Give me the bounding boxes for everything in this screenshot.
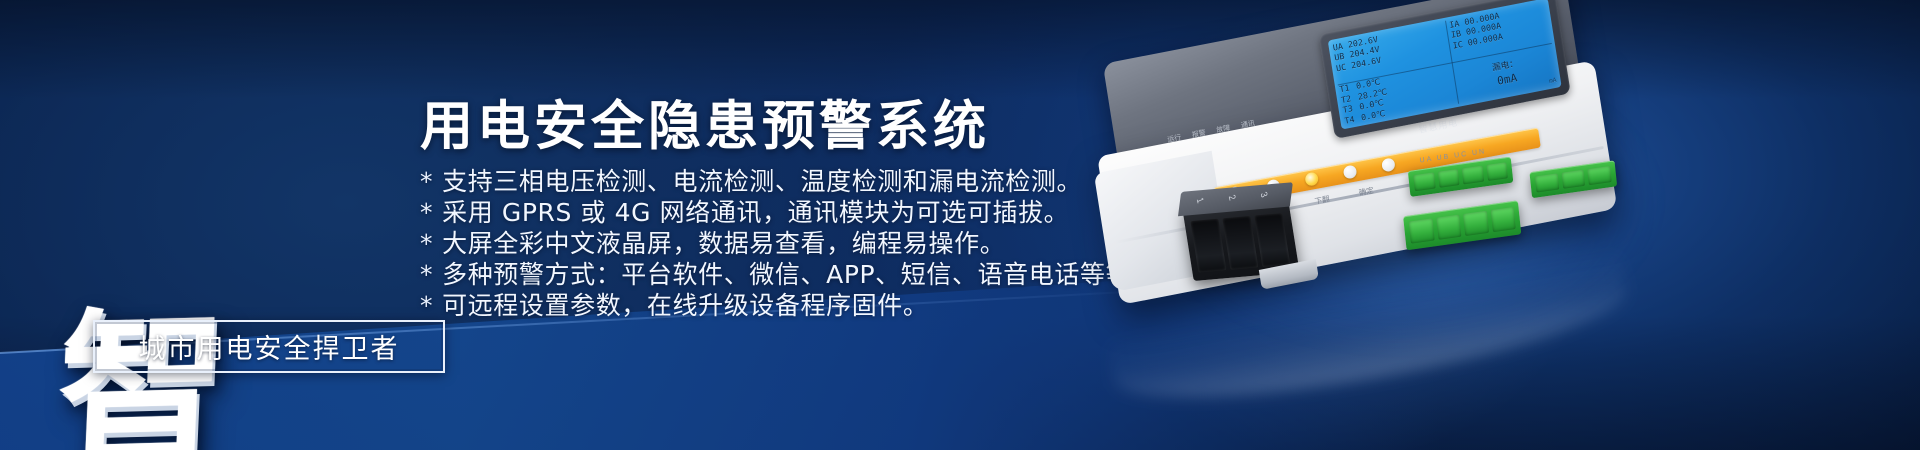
terminal-pin: [1463, 211, 1488, 235]
list-item: * 多种预警方式：平台软件、微信、APP、短信、语音电话等等。: [420, 259, 1120, 290]
connector-pin-label-3: 3: [1259, 190, 1270, 199]
bullet-marker-icon: *: [420, 166, 433, 197]
connector-pin-2: [1222, 216, 1258, 270]
calligraphy-logo: 智 慧: [55, 13, 418, 312]
promo-banner: 智 慧 城市用电安全捍卫者 用电安全隐患预警系统 * 支持三相电压检测、电流检测…: [0, 0, 1920, 450]
terminal-pin: [1462, 166, 1484, 185]
connector-pin-label-2: 2: [1227, 193, 1238, 202]
terminal-pin: [1561, 170, 1585, 189]
connector-pin-label-1: 1: [1195, 196, 1206, 205]
terminal-pin: [1535, 173, 1559, 192]
list-item-text: 采用 GPRS 或 4G 网络通讯，通讯模块为可选可插拔。: [442, 197, 1069, 228]
bullet-marker-icon: *: [420, 259, 433, 290]
terminal-pin: [1438, 169, 1460, 188]
bullet-marker-icon: *: [420, 197, 433, 228]
status-label-alarm: 报警: [1191, 128, 1207, 145]
feature-list: * 支持三相电压检测、电流检测、温度检测和漏电流检测。 * 采用 GPRS 或 …: [420, 166, 1120, 321]
lcd-unit-note: mA: [1549, 75, 1558, 87]
list-item: * 支持三相电压检测、电流检测、温度检测和漏电流检测。: [420, 166, 1120, 197]
terminal-pin: [1486, 162, 1508, 181]
terminal-pin: [1490, 207, 1515, 231]
list-item-text: 大屏全彩中文液晶屏，数据易查看，编程易操作。: [442, 228, 1005, 259]
list-item: * 采用 GPRS 或 4G 网络通讯，通讯模块为可选可插拔。: [420, 197, 1120, 228]
indicator-lamp-3: [1343, 164, 1358, 179]
page-title: 用电安全隐患预警系统: [420, 84, 990, 160]
connector-pin-1: [1190, 219, 1226, 273]
terminal-pin: [1413, 172, 1435, 191]
status-label-run: 运行: [1167, 132, 1183, 149]
indicator-lamp-sun-icon: [1304, 171, 1319, 186]
status-label-comm: 通讯: [1240, 118, 1256, 135]
terminal-pin: [1588, 166, 1612, 185]
status-label-fault: 故障: [1216, 123, 1232, 140]
list-item-text: 支持三相电压检测、电流检测、温度检测和漏电流检测。: [442, 166, 1082, 197]
lcd-leakage-value: 0mA: [1497, 73, 1518, 87]
tagline-text: 城市用电安全捍卫者: [139, 327, 400, 366]
bullet-marker-icon: *: [420, 228, 433, 259]
terminal-pin: [1436, 215, 1461, 239]
tagline-box: 城市用电安全捍卫者: [93, 320, 445, 373]
connector-pin-3: [1254, 213, 1290, 267]
list-item: * 大屏全彩中文液晶屏，数据易查看，编程易操作。: [420, 228, 1120, 259]
terminal-pin: [1409, 219, 1434, 243]
lcd-temp-label-t4: T4: [1344, 113, 1358, 126]
indicator-lamp-4: [1381, 157, 1396, 172]
list-item-text: 多种预警方式：平台软件、微信、APP、短信、语音电话等等。: [442, 259, 1157, 290]
bullet-marker-icon: *: [420, 290, 433, 321]
list-item: * 可远程设置参数，在线升级设备程序固件。: [420, 290, 1120, 321]
list-item-text: 可远程设置参数，在线升级设备程序固件。: [442, 290, 928, 321]
